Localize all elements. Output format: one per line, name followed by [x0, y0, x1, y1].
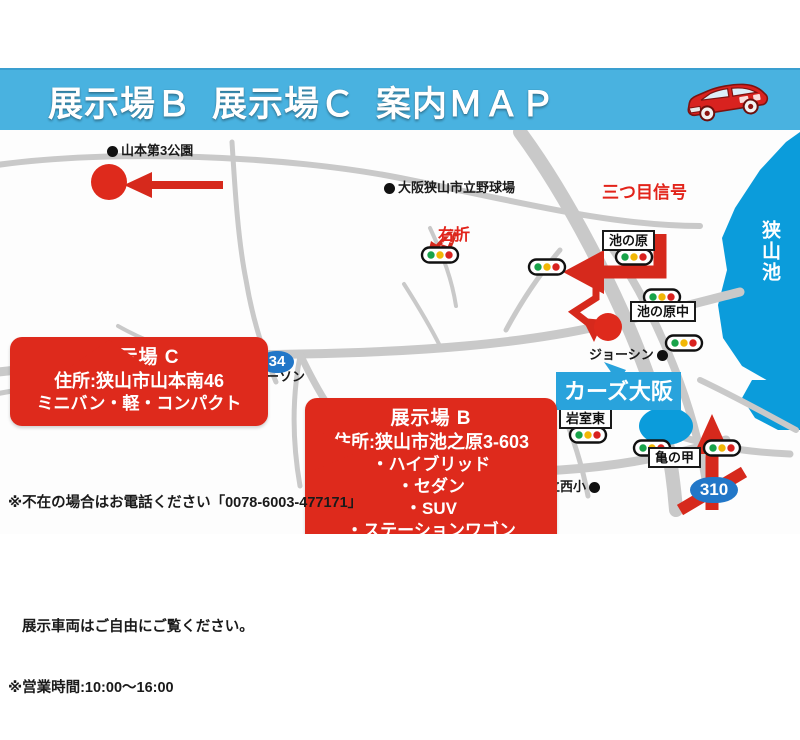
exhibit-b-marker-dot: [594, 313, 622, 341]
black-dot-icon: [384, 183, 395, 194]
bottom-margin: [0, 534, 800, 600]
poi-joshin: ジョーシン: [589, 344, 671, 363]
note-line-3: 展示車両はご自由にご覧ください。: [8, 617, 362, 638]
title-part-c: 展示場Ｃ: [212, 85, 356, 124]
title-part-map: 案内ＭＡＰ: [376, 85, 556, 124]
callout-c-pointer: [10, 337, 268, 367]
annotation-third-signal: 三つ目信号: [602, 178, 687, 203]
callout-c-item-0: ミニバン・軽・コンパクト: [26, 393, 252, 415]
black-dot-icon: [589, 482, 600, 493]
lake-label-sayamaike: 狭山池: [760, 220, 779, 283]
intersection-kamenoko: 亀の甲: [648, 447, 701, 468]
poi-yamamoto-park: 山本第3公園: [104, 140, 193, 159]
intersection-iwamurohigashi: 岩室東: [559, 408, 612, 429]
note-line-1: ※不在の場合はお電話ください「0078-6003-477171」: [8, 493, 362, 514]
exhibit-c-marker-dot: [91, 164, 127, 200]
black-dot-icon: [107, 146, 118, 157]
top-margin: [0, 0, 800, 68]
header-banner: 展示場Ｂ展示場Ｃ案内ＭＡＰ: [0, 68, 800, 134]
poi-baseball-stadium: 大阪狭山市立野球場: [381, 177, 515, 196]
intersection-ikenohara: 池の原: [602, 230, 655, 251]
callout-c-address: 住所:狭山市山本南46: [26, 370, 252, 393]
page-title: 展示場Ｂ展示場Ｃ案内ＭＡＰ: [48, 76, 556, 127]
black-dot-icon: [657, 350, 668, 361]
note-line-4: ※営業時間:10:00〜16:00: [8, 678, 362, 699]
intersection-ikenoharanaka: 池の原中: [630, 301, 696, 322]
destination-label-cars-osaka: カーズ大阪: [556, 372, 681, 410]
callout-exhibit-c: 展示場 C 住所:狭山市山本南46 ミニバン・軽・コンパクト: [10, 337, 268, 426]
annotation-right-turn: 右折: [438, 221, 470, 245]
map-flyer: 展示場Ｂ展示場Ｃ案内ＭＡＰ: [0, 0, 800, 600]
route-arrow-topleft: [124, 172, 223, 198]
red-minivan-icon: [680, 78, 776, 126]
route-shield-310: 310: [690, 477, 738, 503]
title-part-b: 展示場Ｂ: [48, 85, 192, 124]
